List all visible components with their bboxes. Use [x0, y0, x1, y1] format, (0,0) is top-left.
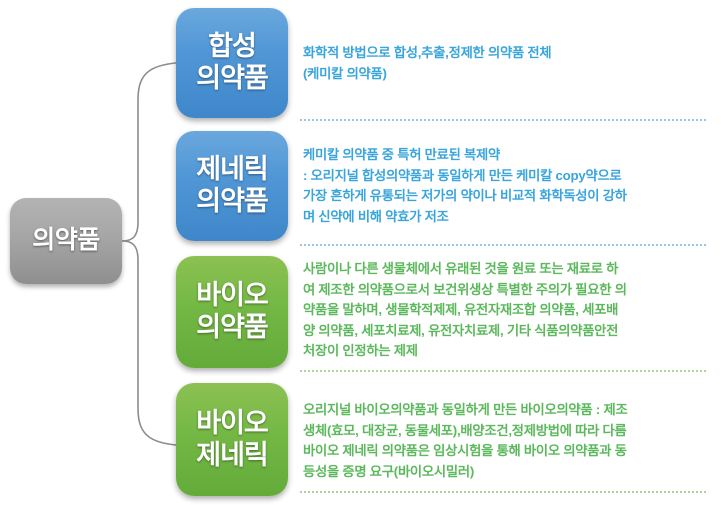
node-label-generic-line2: 의약품 — [196, 186, 268, 218]
node-box-synthetic-drug[interactable]: 합성 의약품 — [176, 8, 288, 118]
node-label-bio-generic-line2: 제네릭 — [196, 440, 268, 472]
node-box-bio-generic[interactable]: 바이오 제네릭 — [176, 383, 288, 496]
node-box-bio-drug[interactable]: 바이오 의약품 — [176, 256, 288, 368]
root-node-label: 의약품 — [32, 227, 100, 255]
node-label-synthetic-line1: 합성 — [208, 31, 256, 63]
description-bio-drug: 사람이나 다른 생물체에서 유래된 것을 원료 또는 재료로 하 여 제조한 의… — [303, 259, 708, 362]
node-label-bio-generic-line1: 바이오 — [196, 408, 268, 440]
separator-2 — [300, 244, 706, 248]
separator-3 — [300, 370, 706, 374]
description-bio-generic: 오리지널 바이오의약품과 동일하게 만든 바이오의약품 : 제조 생체(효모, … — [303, 400, 708, 482]
node-label-bio-line1: 바이오 — [196, 280, 268, 312]
node-label-generic-line1: 제네릭 — [196, 154, 268, 186]
node-label-bio-line2: 의약품 — [196, 312, 268, 344]
description-generic-drug: 케미칼 의약품 중 특허 만료된 복제약 : 오리지널 합성의약품과 동일하게 … — [303, 145, 708, 227]
description-synthetic-drug: 화학적 방법으로 합성,추출,정제한 의약품 전체 (케미칼 의약품) — [303, 43, 708, 84]
node-label-synthetic-line2: 의약품 — [196, 63, 268, 95]
separator-4 — [300, 491, 706, 495]
separator-1 — [300, 119, 706, 123]
root-node-medicine[interactable]: 의약품 — [10, 198, 122, 284]
node-box-generic-drug[interactable]: 제네릭 의약품 — [176, 131, 288, 241]
medicine-classification-diagram: 의약품 합성 의약품 화학적 방법으로 합성,추출,정제한 의약품 전체 (케미… — [0, 0, 721, 505]
